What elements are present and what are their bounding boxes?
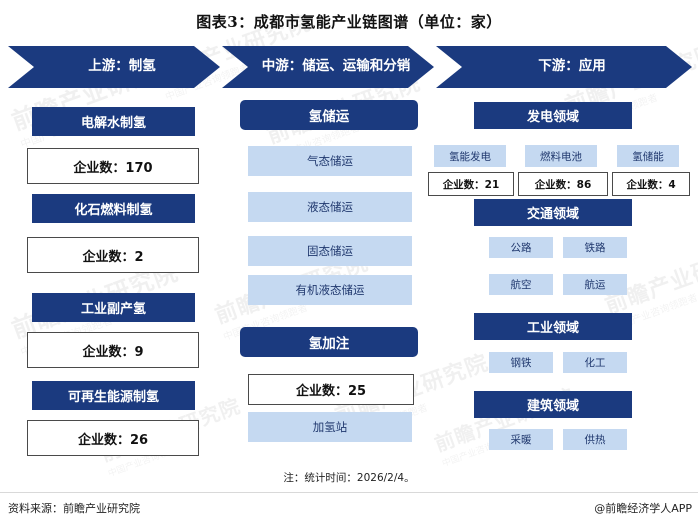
downstream-power-count: 企业数：86 bbox=[518, 172, 608, 196]
label: 有机液态储运 bbox=[296, 282, 365, 298]
label: 航运 bbox=[585, 277, 606, 292]
banner-midstream-label: 中游：储运、运输和分销 bbox=[246, 59, 411, 74]
banner-midstream: 中游：储运、运输和分销 bbox=[222, 46, 434, 88]
label: 采暖 bbox=[511, 432, 532, 447]
footnote: 注：统计时间：2026/2/4。 bbox=[0, 470, 698, 485]
label: 氢储运 bbox=[309, 105, 350, 125]
source-label: 资料来源：前瞻产业研究院 bbox=[8, 500, 140, 516]
label: 氢储能 bbox=[632, 149, 664, 164]
midstream-storage-header: 氢储运 bbox=[240, 100, 418, 130]
midstream-refuel-count: 企业数：25 bbox=[248, 374, 414, 405]
downstream-industry-item: 化工 bbox=[563, 352, 627, 373]
label: 企业数：26 bbox=[78, 429, 148, 448]
label: 供热 bbox=[585, 432, 606, 447]
banner-downstream: 下游：应用 bbox=[436, 46, 692, 88]
label: 工业领域 bbox=[527, 317, 579, 336]
midstream-storage-item: 有机液态储运 bbox=[248, 275, 412, 305]
footer-divider bbox=[0, 492, 698, 493]
midstream-refuel-header: 氢加注 bbox=[240, 327, 418, 357]
downstream-transport-item: 铁路 bbox=[563, 237, 627, 258]
label: 企业数：9 bbox=[82, 341, 143, 360]
downstream-power-item: 燃料电池 bbox=[525, 145, 597, 167]
upstream-group-header: 可再生能源制氢 bbox=[32, 381, 195, 410]
label: 企业数：170 bbox=[73, 157, 152, 176]
downstream-power-count: 企业数：4 bbox=[612, 172, 690, 196]
label: 可再生能源制氢 bbox=[68, 386, 159, 405]
label: 化石燃料制氢 bbox=[74, 199, 152, 218]
label: 气态储运 bbox=[307, 153, 353, 169]
midstream-storage-item: 固态储运 bbox=[248, 236, 412, 266]
downstream-transport-item: 公路 bbox=[489, 237, 553, 258]
label: 固态储运 bbox=[307, 243, 353, 259]
label: 氢加注 bbox=[309, 332, 350, 352]
label: 氢能发电 bbox=[449, 149, 491, 164]
label: 公路 bbox=[511, 240, 532, 255]
downstream-industry-item: 钢铁 bbox=[489, 352, 553, 373]
label: 企业数：4 bbox=[626, 177, 675, 192]
upstream-group-count: 企业数：2 bbox=[27, 237, 199, 273]
label: 建筑领域 bbox=[527, 395, 579, 414]
upstream-group-header: 工业副产氢 bbox=[32, 293, 195, 322]
label: 企业数：86 bbox=[535, 177, 592, 192]
label: 发电领域 bbox=[527, 106, 579, 125]
downstream-power-item: 氢储能 bbox=[617, 145, 679, 167]
label: 液态储运 bbox=[307, 199, 353, 215]
downstream-power-count: 企业数：21 bbox=[428, 172, 514, 196]
label: 加氢站 bbox=[313, 419, 348, 435]
downstream-power-item: 氢能发电 bbox=[434, 145, 506, 167]
downstream-industry-header: 工业领域 bbox=[474, 313, 632, 340]
label: 工业副产氢 bbox=[81, 298, 146, 317]
label: 燃料电池 bbox=[540, 149, 582, 164]
label: 交通领域 bbox=[527, 203, 579, 222]
label: 企业数：21 bbox=[443, 177, 500, 192]
banner-upstream-label: 上游：制氢 bbox=[72, 59, 156, 74]
upstream-group-count: 企业数：9 bbox=[27, 332, 199, 368]
downstream-transport-header: 交通领域 bbox=[474, 199, 632, 226]
upstream-group-header: 化石燃料制氢 bbox=[32, 194, 195, 223]
downstream-transport-item: 航运 bbox=[563, 274, 627, 295]
upstream-group-header: 电解水制氢 bbox=[32, 107, 195, 136]
app-watermark-label: @前瞻经济学人APP bbox=[594, 500, 692, 516]
midstream-storage-item: 液态储运 bbox=[248, 192, 412, 222]
upstream-group-count: 企业数：170 bbox=[27, 148, 199, 184]
label: 企业数：2 bbox=[82, 246, 143, 265]
label: 企业数：25 bbox=[296, 380, 366, 399]
downstream-transport-item: 航空 bbox=[489, 274, 553, 295]
label: 铁路 bbox=[585, 240, 606, 255]
downstream-building-item: 采暖 bbox=[489, 429, 553, 450]
downstream-power-header: 发电领域 bbox=[474, 102, 632, 129]
label: 航空 bbox=[511, 277, 532, 292]
banner-downstream-label: 下游：应用 bbox=[522, 59, 606, 74]
banner-upstream: 上游：制氢 bbox=[8, 46, 220, 88]
label: 电解水制氢 bbox=[81, 112, 146, 131]
midstream-refuel-item: 加氢站 bbox=[248, 412, 412, 442]
upstream-group-count: 企业数：26 bbox=[27, 420, 199, 456]
downstream-building-header: 建筑领域 bbox=[474, 391, 632, 418]
label: 化工 bbox=[585, 355, 606, 370]
page-title: 图表3：成都市氢能产业链图谱（单位：家） bbox=[0, 11, 698, 32]
midstream-storage-item: 气态储运 bbox=[248, 146, 412, 176]
downstream-building-item: 供热 bbox=[563, 429, 627, 450]
label: 钢铁 bbox=[511, 355, 532, 370]
chart-canvas: 前瞻产业研究院中国产业咨询领跑者 前瞻产业研究院中国产业咨询领跑者 前瞻产业研究… bbox=[0, 0, 698, 526]
